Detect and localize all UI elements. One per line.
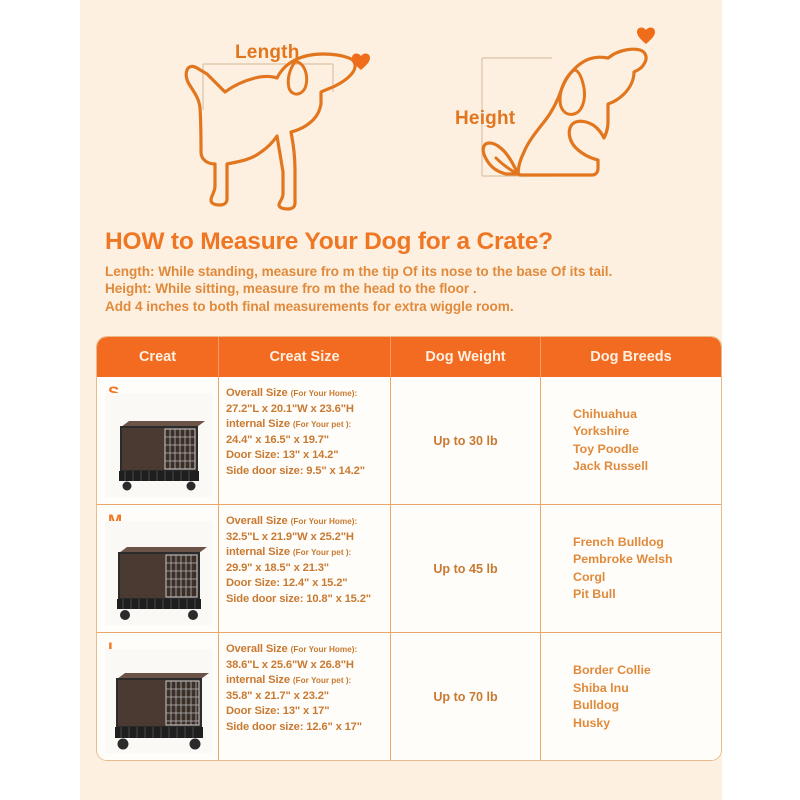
dog-crate-photo-large [105,649,213,753]
internal-size-value: 29.9" x 18.5" x 21.3" [226,561,383,577]
side-door-size: Side door size: 12.6" x 17" [226,720,383,736]
side-door-size: Side door size: 9.5" x 14.2" [226,464,383,480]
overall-size-line: Overall Size (For Your Home): [226,514,383,530]
dog-breeds-cell: French Bulldog Pembroke Welsh Corgl Pit … [541,505,721,632]
table-header-row: Creat Creat Size Dog Weight Dog Breeds [97,337,721,377]
column-header-crate: Creat [97,337,219,377]
breed-item: Chihuahua [573,406,648,424]
page-title: HOW to Measure Your Dog for a Crate? [105,228,705,256]
crate-size-cell: Overall Size (For Your Home): 32.5"L x 2… [219,505,391,632]
table-row: M [97,505,721,633]
column-header-crate-size: Creat Size [219,337,391,377]
column-header-dog-weight: Dog Weight [391,337,541,377]
breed-item: Toy Poodle [573,441,648,459]
instruction-line-height: Height: While sitting, measure fro m the… [105,280,710,297]
instructions-block: Length: While standing, measure fro m th… [105,263,710,315]
dog-weight-cell: Up to 45 lb [391,505,541,632]
breed-item: Border Collie [573,662,651,680]
internal-size-line: internal Size (For Your pet ): [226,673,383,689]
door-size: Door Size: 13" x 14.2" [226,448,383,464]
dog-weight-cell: Up to 70 lb [391,633,541,761]
length-diagram [175,0,425,215]
heart-icon [637,28,655,44]
length-label: Length [235,42,300,64]
overall-size-value: 27.2"L x 20.1"W x 23.6"H [226,402,383,418]
crate-cell: S [97,377,219,504]
table-row: L [97,633,721,761]
internal-size-value: 24.4" x 16.5" x 19.7" [226,433,383,449]
breed-item: Shiba lnu [573,680,651,698]
side-door-size: Side door size: 10.8" x 15.2" [226,592,383,608]
breed-item: French Bulldog [573,534,673,552]
overall-size-value: 32.5"L x 21.9"W x 25.2"H [226,530,383,546]
overall-size-line: Overall Size (For Your Home): [226,386,383,402]
door-size: Door Size: 12.4" x 15.2" [226,576,383,592]
dog-breeds-cell: Chihuahua Yorkshire Toy Poodle Jack Russ… [541,377,721,504]
internal-size-line: internal Size (For Your pet ): [226,417,383,433]
internal-size-value: 35.8" x 21.7" x 23.2" [226,689,383,705]
crate-cell: L [97,633,219,761]
overall-size-line: Overall Size (For Your Home): [226,642,383,658]
instruction-line-wiggle: Add 4 inches to both final measurements … [105,298,710,315]
breed-item: Pit Bull [573,586,673,604]
instruction-line-length: Length: While standing, measure fro m th… [105,263,710,280]
dog-crate-photo-small [105,393,213,497]
breed-item: Corgl [573,569,673,587]
crate-size-table: Creat Creat Size Dog Weight Dog Breeds S [96,336,722,761]
internal-size-line: internal Size (For Your pet ): [226,545,383,561]
column-header-dog-breeds: Dog Breeds [541,337,721,377]
overall-size-value: 38.6"L x 25.6"W x 26.8"H [226,658,383,674]
crate-cell: M [97,505,219,632]
door-size: Door Size: 13" x 17" [226,704,383,720]
infographic-panel: Length Height HOW to Measure Your Dog fo… [80,0,722,800]
height-label: Height [455,108,515,130]
table-row: S [97,377,721,505]
breed-item: Pembroke Welsh [573,551,673,569]
measurement-illustrations: Length Height [80,0,722,215]
breed-item: Bulldog [573,697,651,715]
crate-size-cell: Overall Size (For Your Home): 38.6"L x 2… [219,633,391,761]
breed-item: Jack Russell [573,458,648,476]
breed-item: Yorkshire [573,423,648,441]
dog-breeds-cell: Border Collie Shiba lnu Bulldog Husky [541,633,721,761]
breed-item: Husky [573,715,651,733]
dog-weight-cell: Up to 30 lb [391,377,541,504]
dog-crate-photo-medium [105,521,213,625]
crate-size-cell: Overall Size (For Your Home): 27.2"L x 2… [219,377,391,504]
